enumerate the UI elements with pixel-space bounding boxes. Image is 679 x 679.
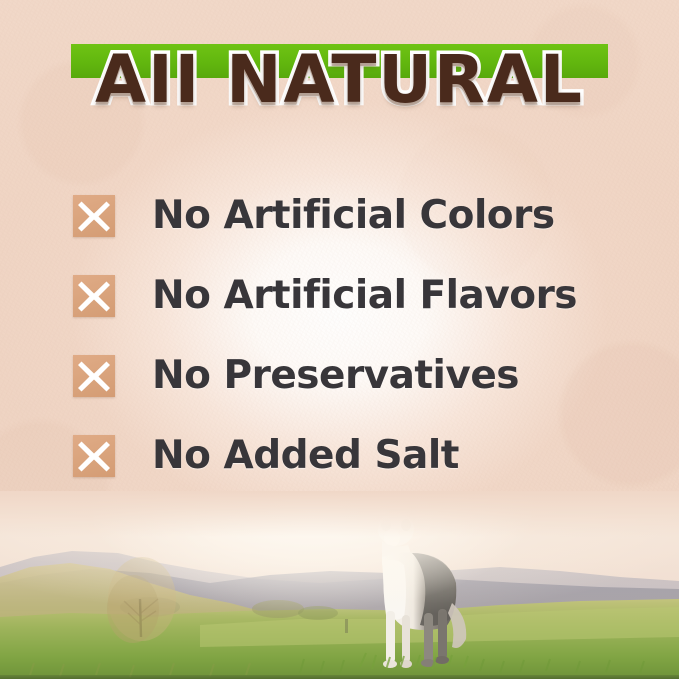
list-item-label: No Preservatives [152,355,519,397]
list-item: No Artificial Colors [73,176,613,256]
list-item: No Preservatives [73,336,613,416]
headline-text: AII NATURAL [0,44,679,116]
list-item: No Artificial Flavors [73,256,613,336]
list-item-label: No Artificial Colors [152,195,555,237]
claims-list: No Artificial Colors No Artificial Flavo… [73,176,613,496]
dog-in-field-photo [0,491,679,679]
x-mark-icon [73,195,115,237]
headline-block: AII NATURAL [0,44,679,134]
x-mark-icon [73,355,115,397]
list-item-label: No Added Salt [152,435,459,477]
list-item-label: No Artificial Flavors [152,275,577,317]
x-mark-icon [73,435,115,477]
all-natural-product-poster: AII NATURAL No Artificial Colors No Arti… [0,0,679,679]
list-item: No Added Salt [73,416,613,496]
x-mark-icon [73,275,115,317]
